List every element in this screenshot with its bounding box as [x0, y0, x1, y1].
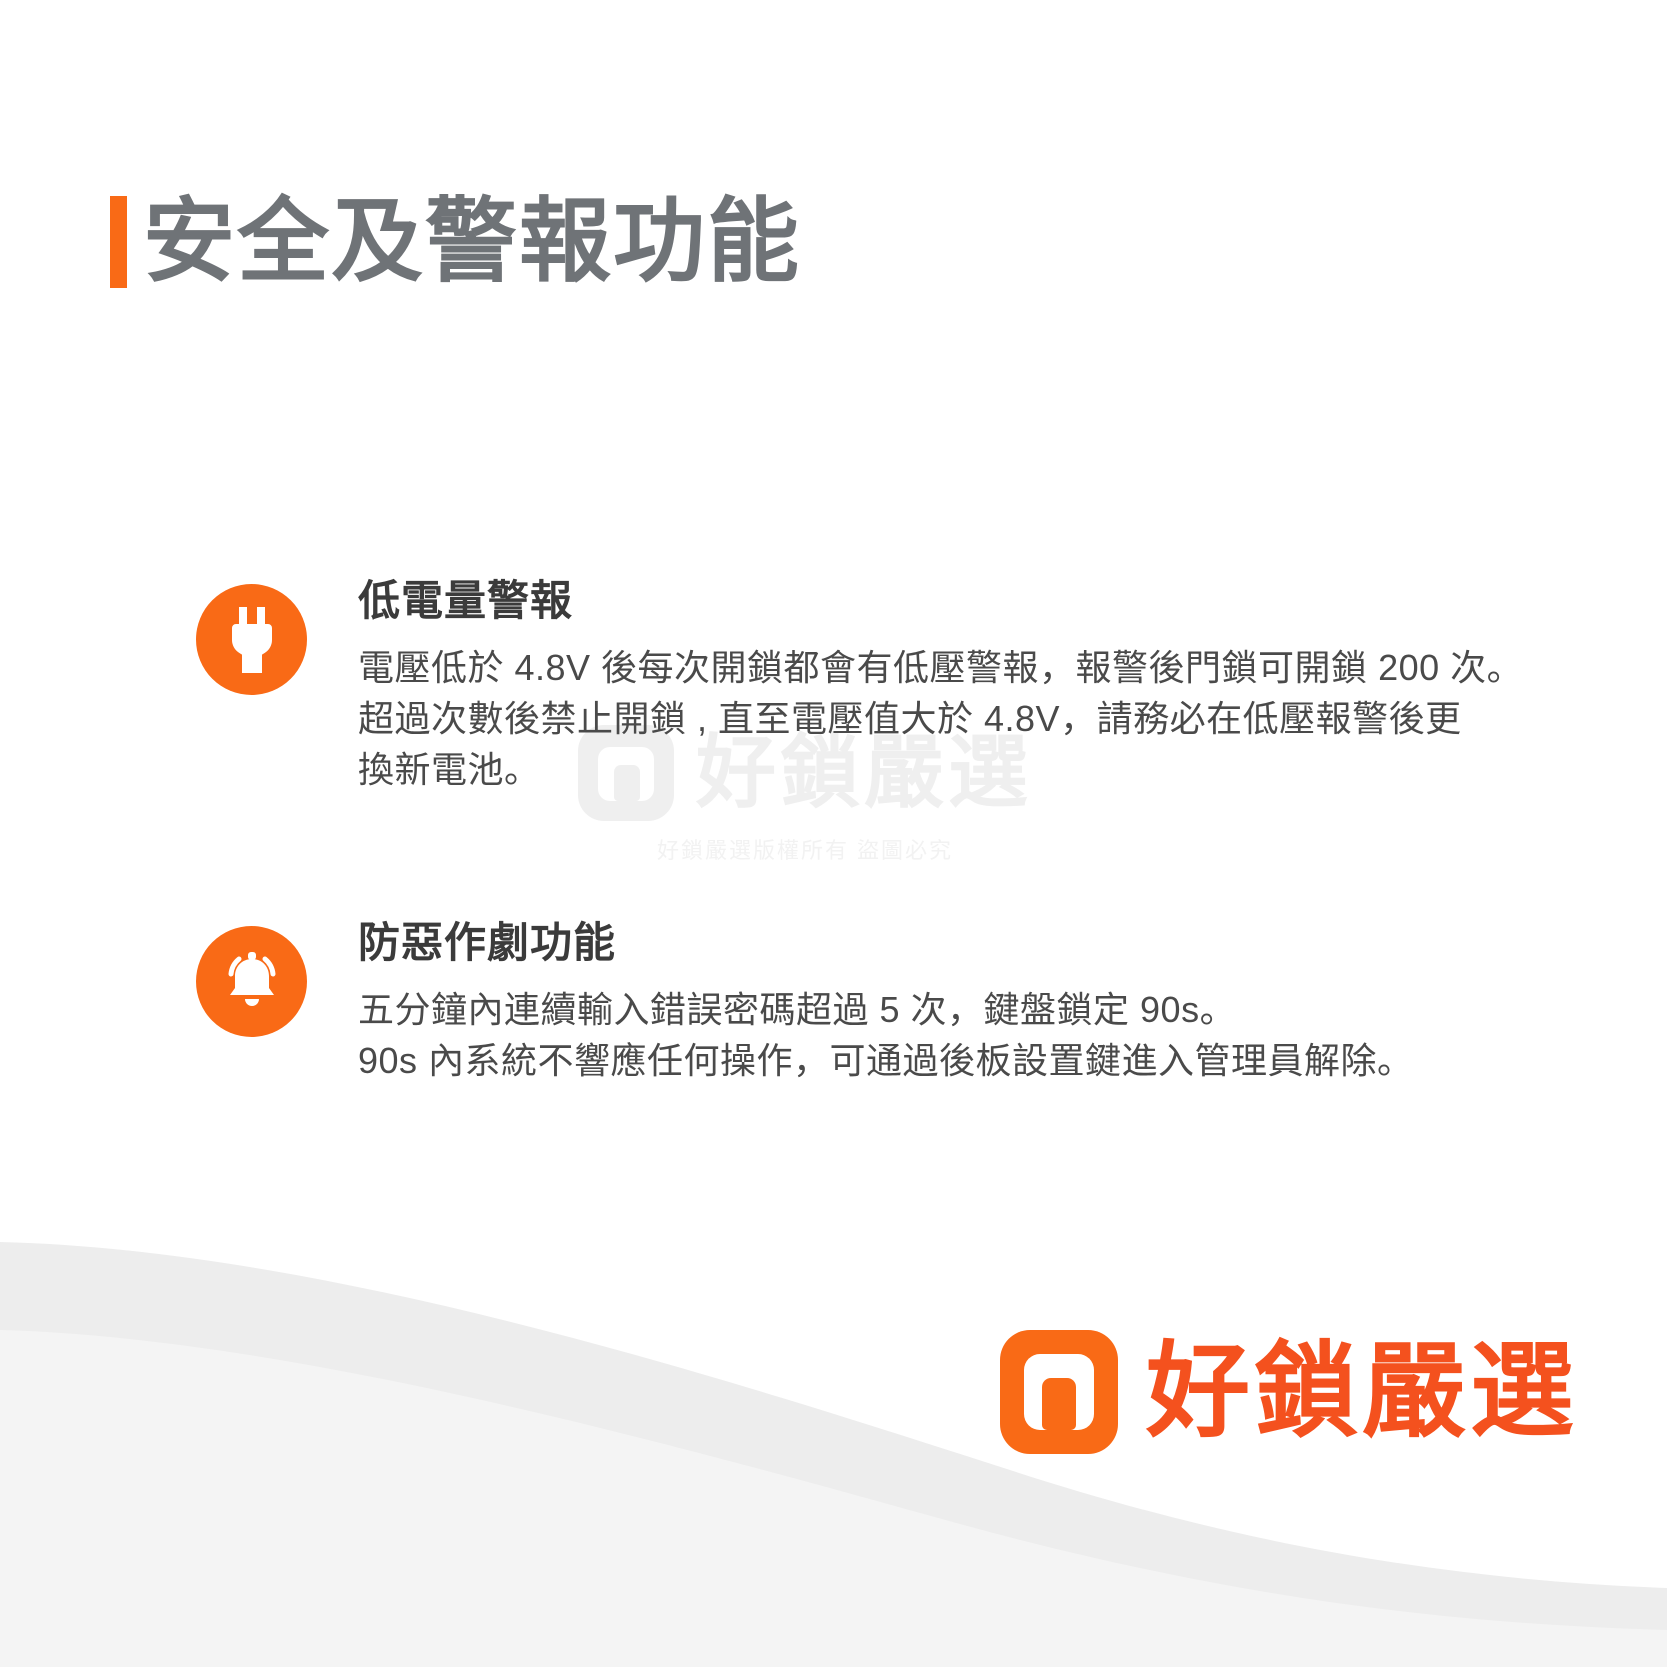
- brand-logo: 好鎖嚴選: [1000, 1330, 1578, 1454]
- feature-icon-circle: [196, 584, 307, 695]
- title-accent-bar: [110, 196, 127, 288]
- feature-text-line: 五分鐘內連續輸入錯誤密碼超過 5 次，鍵盤鎖定 90s。: [358, 984, 1436, 1035]
- power-plug-icon: [223, 607, 281, 673]
- brand-logo-text: 好鎖嚴選: [1146, 1340, 1578, 1444]
- feature-text-line: 90s 內系統不響應任何操作，可通過後板設置鍵進入管理員解除。: [358, 1035, 1436, 1086]
- feature-text-line: 換新電池。: [358, 744, 1523, 795]
- feature-item-low-battery: 低電量警報 電壓低於 4.8V 後每次開鎖都會有低壓警報，報警後門鎖可開鎖 20…: [196, 578, 1436, 796]
- feature-text-line: 電壓低於 4.8V 後每次開鎖都會有低壓警報，報警後門鎖可開鎖 200 次。: [358, 642, 1523, 693]
- feature-heading: 防惡作劇功能: [358, 920, 1436, 966]
- feature-text-line: 超過次數後禁止開鎖 , 直至電壓值大於 4.8V，請務必在低壓報警後更: [358, 693, 1523, 744]
- feature-list: 低電量警報 電壓低於 4.8V 後每次開鎖都會有低壓警報，報警後門鎖可開鎖 20…: [196, 578, 1436, 1086]
- feature-icon-circle: [196, 926, 307, 1037]
- feature-body: 低電量警報 電壓低於 4.8V 後每次開鎖都會有低壓警報，報警後門鎖可開鎖 20…: [358, 578, 1523, 796]
- page-title: 安全及警報功能: [110, 196, 801, 288]
- feature-body: 防惡作劇功能 五分鐘內連續輸入錯誤密碼超過 5 次，鍵盤鎖定 90s。 90s …: [358, 920, 1436, 1086]
- feature-heading: 低電量警報: [358, 578, 1523, 624]
- slide-canvas: 安全及警報功能 好鎖嚴選 好鎖嚴選版權所有 盜圖必究 低電量警報 電壓低於 4.…: [0, 0, 1667, 1667]
- title-text: 安全及警報功能: [143, 196, 801, 288]
- brand-logo-icon: [1000, 1330, 1118, 1454]
- feature-item-anti-tamper: 防惡作劇功能 五分鐘內連續輸入錯誤密碼超過 5 次，鍵盤鎖定 90s。 90s …: [196, 920, 1436, 1086]
- brand-logo-icon-shape: [1042, 1378, 1076, 1430]
- alarm-bell-icon: [220, 949, 284, 1013]
